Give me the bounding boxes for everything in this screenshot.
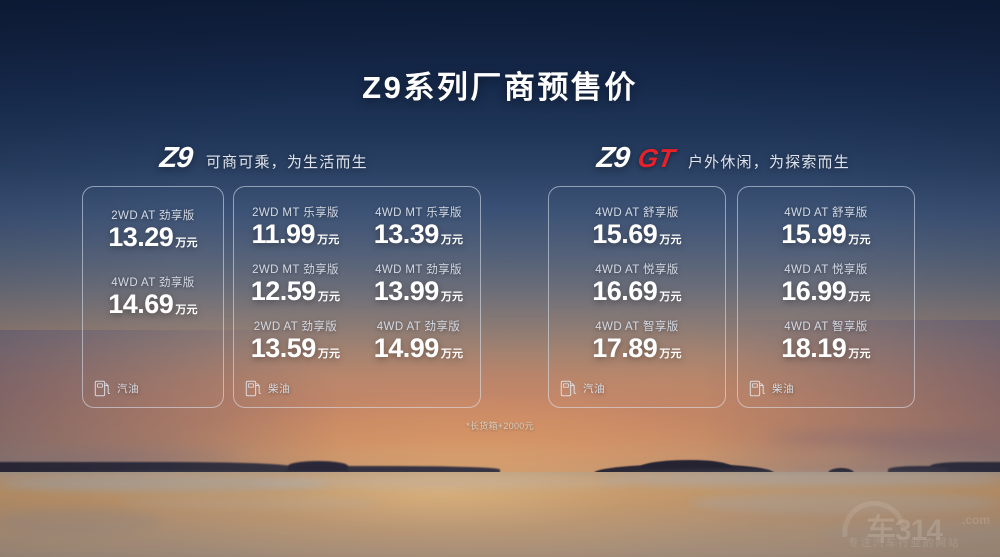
price-value: 18.19 (781, 333, 846, 363)
price-card-z9-gasoline[interactable]: 2WD AT 劲享版13.29万元4WD AT 劲享版14.69万元汽油 (82, 186, 224, 408)
trim-row[interactable]: 4WD AT 劲享版14.99万元 (357, 318, 480, 364)
price-value: 15.69 (592, 219, 657, 249)
price-unit: 万元 (848, 291, 870, 303)
trim-price: 12.59万元 (234, 276, 357, 307)
price-column: 2WD AT 劲享版13.29万元4WD AT 劲享版14.69万元 (83, 187, 223, 407)
price-column: 4WD MT 乐享版13.39万元4WD MT 劲享版13.99万元4WD AT… (357, 187, 480, 407)
site-watermark: 车314 .com 专注汽车行业的网站 (840, 497, 992, 553)
trim-row[interactable]: 2WD MT 劲享版12.59万元 (234, 261, 357, 307)
trim-name: 4WD AT 悦享版 (549, 261, 725, 277)
price-value: 14.99 (374, 333, 439, 363)
section-header-z9gt: Z9 GT 户外休闲，为探索而生 (597, 142, 850, 175)
trim-name: 2WD MT 劲享版 (234, 261, 357, 277)
trim-name: 4WD AT 智享版 (549, 318, 725, 334)
trim-price: 18.19万元 (738, 333, 914, 364)
price-value: 12.59 (251, 276, 316, 306)
model-tagline-z9: 可商可乘，为生活而生 (206, 151, 368, 172)
fuel-type: 柴油 (749, 379, 794, 398)
price-column: 4WD AT 舒享版15.99万元4WD AT 悦享版16.99万元4WD AT… (738, 187, 914, 407)
trim-name: 4WD AT 悦享版 (738, 261, 914, 277)
trim-row[interactable]: 4WD AT 智享版17.89万元 (549, 318, 725, 364)
trim-row[interactable]: 4WD AT 舒享版15.99万元 (738, 204, 914, 250)
price-unit: 万元 (317, 234, 339, 246)
trim-row[interactable]: 4WD AT 舒享版15.69万元 (549, 204, 725, 250)
trim-price: 16.99万元 (738, 276, 914, 307)
price-value: 14.69 (108, 289, 173, 319)
price-value: 16.99 (781, 276, 846, 306)
trim-row[interactable]: 4WD AT 悦享版16.99万元 (738, 261, 914, 307)
trim-row[interactable]: 2WD AT 劲享版13.59万元 (234, 318, 357, 364)
price-columns: 2WD AT 劲享版13.29万元4WD AT 劲享版14.69万元 (83, 187, 223, 407)
trim-name: 2WD MT 乐享版 (234, 204, 357, 220)
trim-name: 4WD MT 乐享版 (357, 204, 480, 220)
trim-row[interactable]: 2WD MT 乐享版11.99万元 (234, 204, 357, 250)
fuel-label: 汽油 (583, 381, 605, 396)
fuel-type: 柴油 (245, 379, 290, 398)
watermark-suffix: .com (962, 513, 990, 527)
trim-name: 4WD AT 舒享版 (738, 204, 914, 220)
trim-row[interactable]: 4WD AT 智享版18.19万元 (738, 318, 914, 364)
trim-name: 4WD AT 劲享版 (83, 274, 223, 290)
price-unit: 万元 (848, 348, 870, 360)
price-unit: 万元 (441, 348, 463, 360)
price-value: 13.59 (251, 333, 316, 363)
price-unit: 万元 (175, 304, 197, 316)
trim-name: 4WD AT 舒享版 (549, 204, 725, 220)
trim-price: 13.59万元 (234, 333, 357, 364)
price-unit: 万元 (441, 234, 463, 246)
model-tagline-z9gt: 户外休闲，为探索而生 (688, 151, 850, 172)
trim-name: 4WD MT 劲享版 (357, 261, 480, 277)
price-columns: 2WD MT 乐享版11.99万元2WD MT 劲享版12.59万元2WD AT… (234, 187, 480, 407)
trim-price: 13.29万元 (83, 222, 223, 253)
trim-row[interactable]: 4WD AT 悦享版16.69万元 (549, 261, 725, 307)
model-badge-gt: GT (635, 143, 677, 174)
price-unit: 万元 (659, 234, 681, 246)
trim-row[interactable]: 2WD AT 劲享版13.29万元 (83, 207, 223, 253)
price-unit: 万元 (318, 348, 340, 360)
price-value: 11.99 (252, 219, 316, 249)
model-name-z9: Z9 (595, 142, 630, 175)
page-title: Z9系列厂商预售价 (0, 62, 1000, 107)
price-card-z9-diesel[interactable]: 2WD MT 乐享版11.99万元2WD MT 劲享版12.59万元2WD AT… (233, 186, 481, 408)
price-value: 16.69 (592, 276, 657, 306)
price-columns: 4WD AT 舒享版15.99万元4WD AT 悦享版16.99万元4WD AT… (738, 187, 914, 407)
footnote: *长货箱+2000元 (0, 419, 1000, 432)
trim-price: 11.99万元 (234, 219, 357, 250)
fuel-label: 汽油 (117, 381, 139, 396)
trim-row[interactable]: 4WD AT 劲享版14.69万元 (83, 274, 223, 320)
price-column: 2WD MT 乐享版11.99万元2WD MT 劲享版12.59万元2WD AT… (234, 187, 357, 407)
trim-price: 13.99万元 (357, 276, 480, 307)
fuel-label: 柴油 (772, 381, 794, 396)
price-unit: 万元 (175, 237, 197, 249)
price-unit: 万元 (318, 291, 340, 303)
fuel-pump-icon (560, 379, 577, 398)
trim-price: 15.99万元 (738, 219, 914, 250)
model-name-z9: Z9 (158, 142, 193, 175)
price-card-z9gt-gasoline[interactable]: 4WD AT 舒享版15.69万元4WD AT 悦享版16.69万元4WD AT… (548, 186, 726, 408)
trim-name: 2WD AT 劲享版 (234, 318, 357, 334)
price-value: 13.99 (374, 276, 439, 306)
price-value: 13.39 (374, 219, 439, 249)
price-unit: 万元 (441, 291, 463, 303)
fuel-type: 汽油 (560, 379, 605, 398)
trim-price: 14.69万元 (83, 289, 223, 320)
trim-row[interactable]: 4WD MT 劲享版13.99万元 (357, 261, 480, 307)
fuel-pump-icon (749, 379, 766, 398)
price-columns: 4WD AT 舒享版15.69万元4WD AT 悦享版16.69万元4WD AT… (549, 187, 725, 407)
trim-price: 14.99万元 (357, 333, 480, 364)
fuel-pump-icon (94, 379, 111, 398)
trim-name: 4WD AT 智享版 (738, 318, 914, 334)
price-column: 4WD AT 舒享版15.69万元4WD AT 悦享版16.69万元4WD AT… (549, 187, 725, 407)
price-value: 17.89 (592, 333, 657, 363)
watermark-subtitle: 专注汽车行业的网站 (848, 535, 961, 550)
trim-price: 15.69万元 (549, 219, 725, 250)
trim-name: 4WD AT 劲享版 (357, 318, 480, 334)
section-header-z9: Z9 可商可乘，为生活而生 (160, 142, 368, 175)
trim-row[interactable]: 4WD MT 乐享版13.39万元 (357, 204, 480, 250)
fuel-label: 柴油 (268, 381, 290, 396)
price-unit: 万元 (659, 291, 681, 303)
trim-price: 13.39万元 (357, 219, 480, 250)
price-value: 15.99 (781, 219, 846, 249)
price-unit: 万元 (659, 348, 681, 360)
fuel-pump-icon (245, 379, 262, 398)
trim-name: 2WD AT 劲享版 (83, 207, 223, 223)
price-card-z9gt-diesel[interactable]: 4WD AT 舒享版15.99万元4WD AT 悦享版16.99万元4WD AT… (737, 186, 915, 408)
trim-price: 17.89万元 (549, 333, 725, 364)
price-unit: 万元 (848, 234, 870, 246)
fuel-type: 汽油 (94, 379, 139, 398)
trim-price: 16.69万元 (549, 276, 725, 307)
price-value: 13.29 (108, 222, 173, 252)
